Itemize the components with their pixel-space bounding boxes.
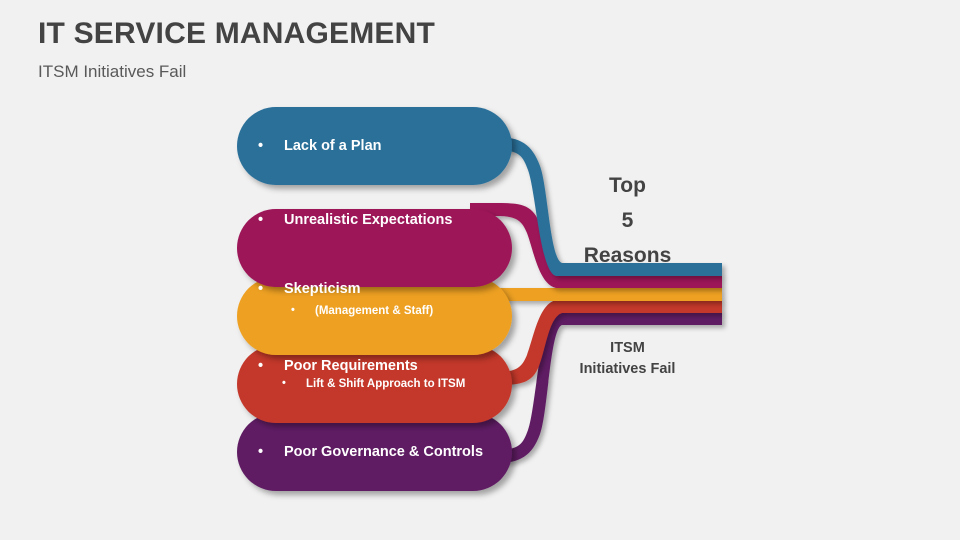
center-caption-line-1: ITSM bbox=[540, 338, 715, 359]
center-caption: ITSM Initiatives Fail bbox=[540, 338, 715, 380]
center-heading: Top 5 Reasons bbox=[540, 168, 715, 273]
center-heading-line-3: Reasons bbox=[540, 238, 715, 273]
center-caption-line-2: Initiatives Fail bbox=[540, 359, 715, 380]
slide-canvas: IT SERVICE MANAGEMENT ITSM Initiatives F… bbox=[0, 0, 960, 540]
center-heading-line-1: Top bbox=[540, 168, 715, 203]
center-heading-line-2: 5 bbox=[540, 203, 715, 238]
funnel-diagram bbox=[0, 0, 960, 540]
